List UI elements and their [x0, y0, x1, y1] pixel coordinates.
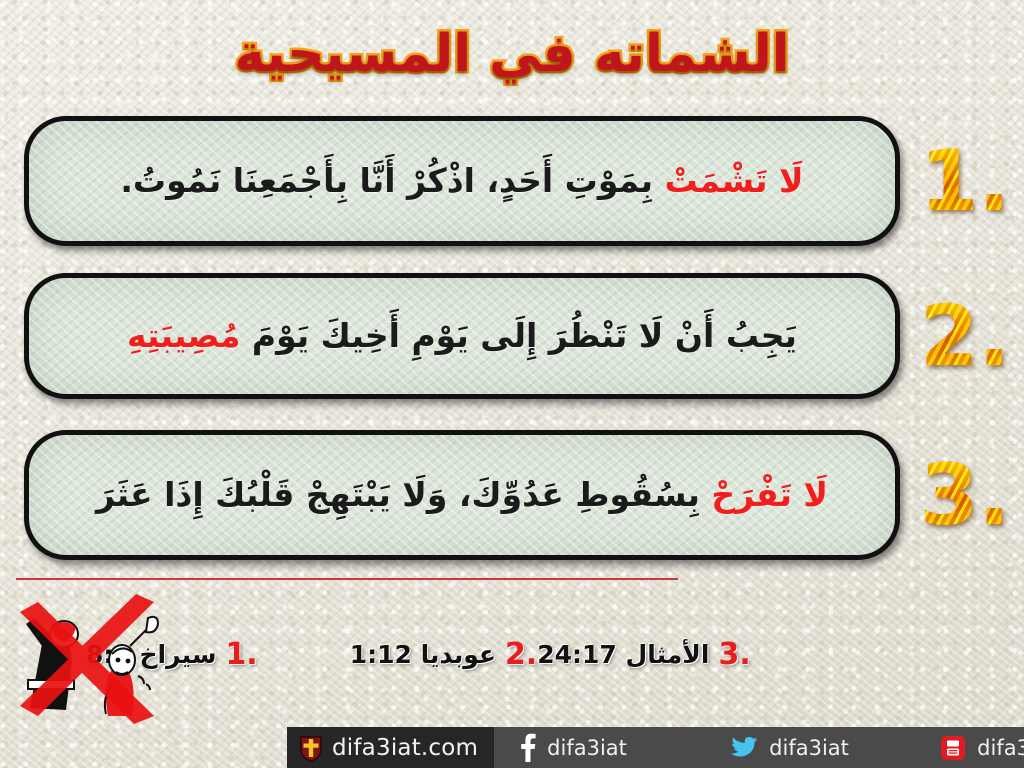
reference-text-2: عوبديا 1:12	[350, 640, 496, 669]
website-label: difa3iat.com	[332, 735, 478, 761]
verse-body-3: بِسُقُوطِ عَدُوِّكَ، وَلَا يَبْتَهِجْ قَ…	[96, 475, 700, 514]
youtube-icon	[940, 735, 966, 761]
verse-card-1: لَا تَشْمَتْ بِمَوْتِ أَحَدٍ، اذْكُرْ أَ…	[24, 116, 900, 246]
reference-item-3: 3. الأمثال 24:17	[537, 637, 751, 672]
twitter-icon	[730, 736, 758, 760]
page-title: الشماته في المسيحية	[234, 28, 789, 80]
title-banner: الشماته في المسيحية	[0, 6, 1024, 102]
verse-text-2: يَجِبُ أَنْ لَا تَنْظُرَ إِلَى يَوْمِ أَ…	[109, 312, 815, 360]
verse-highlight-3: لَا تَفْرَحْ	[700, 475, 828, 514]
verse-card-3: لَا تَفْرَحْ بِسُقُوطِ عَدُوِّكَ، وَلَا …	[24, 430, 900, 560]
reference-item-2: 2. عوبديا 1:12	[350, 637, 538, 672]
reference-text-3: الأمثال 24:17	[537, 640, 709, 669]
reference-number-2: 2.	[505, 637, 537, 672]
social-links: difa3iat difa3iat difa3iat	[494, 727, 1024, 768]
verse-number-1: 1.	[906, 139, 1024, 223]
verse-number-2: 2.	[906, 294, 1024, 378]
verse-text-1: لَا تَشْمَتْ بِمَوْتِ أَحَدٍ، اذْكُرْ أَ…	[102, 157, 821, 205]
youtube-link[interactable]: difa3iat	[940, 735, 1024, 761]
cartoon-illustration	[12, 588, 172, 724]
facebook-link[interactable]: difa3iat	[520, 733, 730, 763]
verse-body-2: يَجِبُ أَنْ لَا تَنْظُرَ إِلَى يَوْمِ أَ…	[240, 316, 797, 355]
facebook-handle: difa3iat	[547, 736, 627, 760]
verse-card-2: يَجِبُ أَنْ لَا تَنْظُرَ إِلَى يَوْمِ أَ…	[24, 273, 900, 399]
website-link[interactable]: difa3iat.com	[287, 727, 494, 768]
verse-highlight-2: مُصِيبَتِهِ	[127, 316, 240, 355]
section-divider	[16, 578, 678, 580]
verse-number-3: 3.	[906, 453, 1024, 537]
verse-row-3: 3. لَا تَفْرَحْ بِسُقُوطِ عَدُوِّكَ، وَل…	[0, 430, 1024, 560]
facebook-icon	[520, 733, 536, 763]
shield-cross-logo-icon	[299, 734, 323, 762]
reference-number-1: 1.	[225, 637, 257, 672]
poster-canvas: الشماته في المسيحية 1. لَا تَشْمَتْ بِمَ…	[0, 0, 1024, 768]
verse-row-2: 2. يَجِبُ أَنْ لَا تَنْظُرَ إِلَى يَوْمِ…	[0, 273, 1024, 399]
footer-bar: difa3iat.com difa3iat difa3iat	[287, 727, 1024, 768]
verse-body-1: بِمَوْتِ أَحَدٍ، اذْكُرْ أَنَّا بِأَجْمَ…	[120, 161, 653, 200]
verse-text-3: لَا تَفْرَحْ بِسُقُوطِ عَدُوِّكَ، وَلَا …	[78, 471, 846, 519]
reference-number-3: 3.	[718, 637, 750, 672]
verse-row-1: 1. لَا تَشْمَتْ بِمَوْتِ أَحَدٍ، اذْكُرْ…	[0, 116, 1024, 246]
twitter-handle: difa3iat	[769, 736, 849, 760]
twitter-link[interactable]: difa3iat	[730, 736, 940, 760]
youtube-handle: difa3iat	[977, 736, 1024, 760]
verse-highlight-1: لَا تَشْمَتْ	[653, 161, 804, 200]
